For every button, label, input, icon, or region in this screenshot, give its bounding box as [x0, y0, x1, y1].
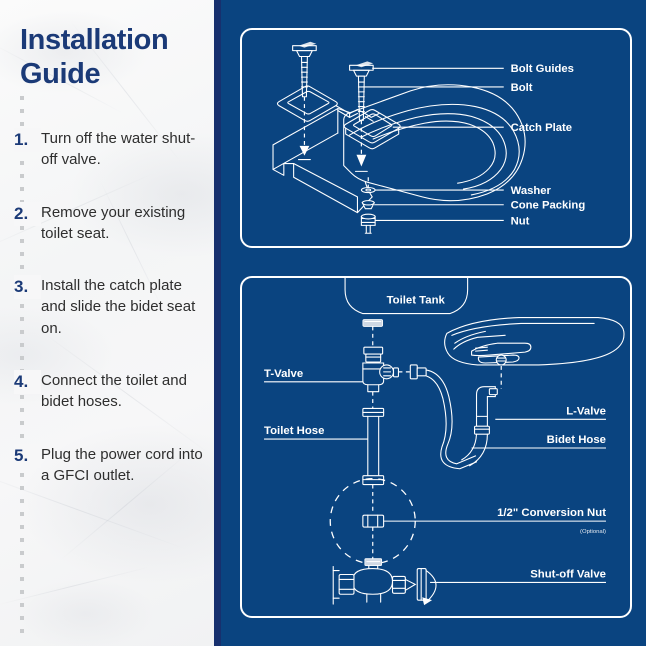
label-conversion-nut: 1/2" Conversion Nut — [497, 507, 606, 519]
catch-plate-diagram-card: Bolt Guides Bolt Catch Plate Washer Cone… — [240, 28, 632, 248]
catch-plate-diagram-svg: Bolt Guides Bolt Catch Plate Washer Cone… — [242, 30, 630, 246]
step-number: 2. — [14, 202, 41, 226]
water-hookup-diagram-card: Toilet Tank — [240, 276, 632, 618]
step-text: Plug the power cord into a GFCI outlet. — [41, 444, 210, 487]
step-number: 3. — [14, 275, 41, 299]
label-shutoff-valve: Shut-off Valve — [530, 568, 606, 580]
label-cone-packing: Cone Packing — [511, 200, 586, 212]
label-catch-plate: Catch Plate — [511, 122, 572, 134]
step-item: 2. Remove your existing toilet seat. — [14, 202, 210, 245]
step-number: 4. — [14, 370, 41, 394]
step-item: 1. Turn off the water shut-off valve. — [14, 128, 210, 171]
step-item: 5. Plug the power cord into a GFCI outle… — [14, 444, 210, 487]
leader-lines — [264, 382, 606, 583]
steps-list: 1. Turn off the water shut-off valve. 2.… — [14, 128, 210, 517]
installation-guide-page: Installation Guide 1. Turn off the water… — [0, 0, 646, 646]
step-item: 3. Install the catch plate and slide the… — [14, 275, 210, 339]
label-conversion-nut-note: (Optional) — [580, 529, 606, 535]
label-bolt: Bolt — [511, 82, 533, 94]
label-toilet-tank: Toilet Tank — [387, 295, 446, 307]
label-bolt-guides: Bolt Guides — [511, 63, 574, 75]
toilet-hose-run — [363, 392, 384, 514]
t-valve-part — [363, 347, 399, 391]
label-bidet-hose: Bidet Hose — [547, 434, 606, 446]
label-t-valve: T-Valve — [264, 368, 303, 380]
page-title: Installation Guide — [20, 24, 205, 92]
step-item: 4. Connect the toilet and bidet hoses. — [14, 370, 210, 413]
diagrams-panel: Bolt Guides Bolt Catch Plate Washer Cone… — [214, 0, 646, 646]
bolt-left — [293, 42, 317, 160]
label-l-valve: L-Valve — [566, 405, 606, 417]
instructions-panel: Installation Guide 1. Turn off the water… — [0, 0, 214, 646]
label-toilet-hose: Toilet Hose — [264, 425, 324, 437]
bidet-hose-coupler — [410, 365, 426, 379]
tank-inlet-fitting — [363, 320, 383, 327]
step-number: 5. — [14, 444, 41, 468]
water-hookup-diagram-svg: Toilet Tank — [242, 278, 630, 616]
page-title-line-1: Installation — [20, 24, 205, 58]
leader-lines — [363, 68, 503, 220]
l-valve-part — [462, 387, 498, 466]
step-number: 1. — [14, 128, 41, 152]
step-text: Install the catch plate and slide the bi… — [41, 275, 210, 339]
step-text: Remove your existing toilet seat. — [41, 202, 210, 245]
fastener-stack — [361, 177, 375, 233]
step-text: Connect the toilet and bidet hoses. — [41, 370, 210, 413]
catch-plate-part — [277, 86, 400, 149]
toilet-bowl-outline — [273, 85, 525, 213]
step-text: Turn off the water shut-off valve. — [41, 128, 210, 171]
label-washer: Washer — [511, 185, 552, 197]
bidet-seat-outline — [445, 318, 624, 365]
navy-edge-strip — [214, 0, 221, 646]
shutoff-valve-part — [333, 559, 436, 605]
label-nut: Nut — [511, 215, 530, 227]
page-title-line-2: Guide — [20, 58, 205, 92]
